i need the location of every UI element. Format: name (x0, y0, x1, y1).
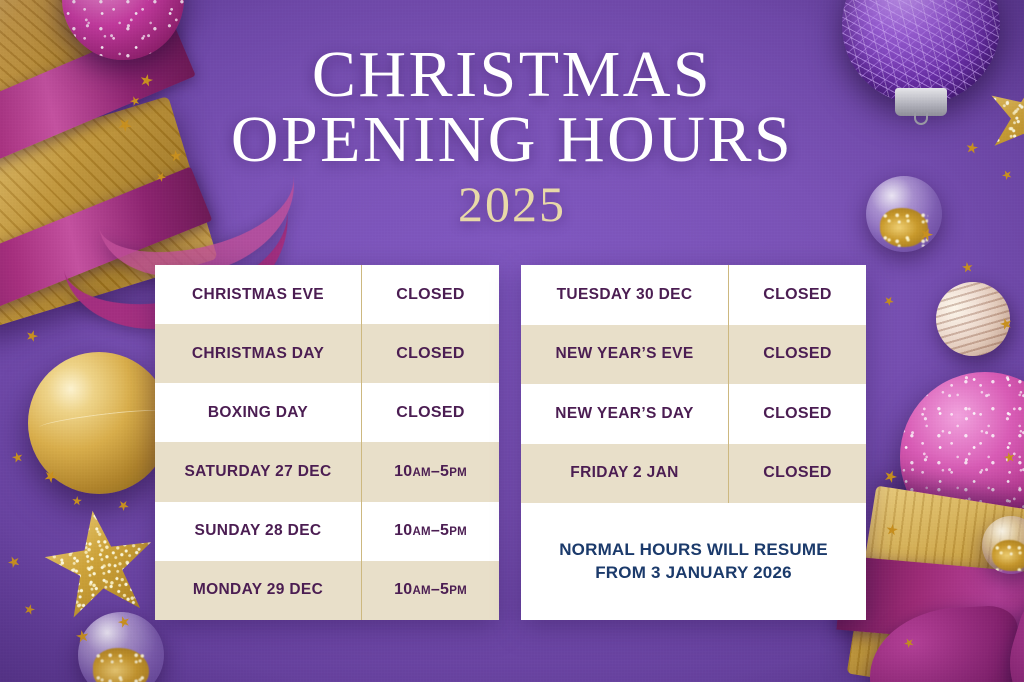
close-unit: PM (449, 467, 467, 479)
day-label: TUESDAY 30 DEC (521, 265, 728, 325)
day-label: NEW YEAR’S DAY (521, 384, 728, 444)
hours-value: CLOSED (763, 405, 831, 423)
day-label: MONDAY 29 DEC (155, 561, 361, 620)
gift-bow-loop (992, 588, 1024, 682)
star-confetti (116, 614, 131, 629)
note-line-2: FROM 3 JANUARY 2026 (595, 562, 792, 584)
hours-cell: CLOSED (361, 324, 499, 383)
open-unit: AM (413, 526, 431, 538)
table-row: CHRISTMAS DAYCLOSED (155, 324, 499, 383)
hours-value: CLOSED (396, 345, 464, 363)
poster-title: CHRISTMAS OPENING HOURS 2025 (0, 42, 1024, 229)
title-year: 2025 (0, 179, 1024, 229)
hours-cell: CLOSED (728, 265, 866, 325)
star-confetti (11, 451, 24, 464)
day-label: CHRISTMAS EVE (155, 265, 361, 324)
glitter-texture (900, 372, 1024, 542)
gold-flakes (992, 540, 1024, 570)
star-confetti (885, 523, 899, 537)
table-row: TUESDAY 30 DECCLOSED (521, 265, 866, 325)
hours-value: 10AM–5PM (394, 581, 467, 599)
hours-cell: CLOSED (361, 383, 499, 442)
note-line-1: NORMAL HOURS WILL RESUME (559, 539, 828, 561)
hours-cell: 10AM–5PM (361, 561, 499, 620)
day-label: SATURDAY 27 DEC (155, 442, 361, 501)
table-row: FRIDAY 2 JANCLOSED (521, 444, 866, 504)
clear-gold-flake-bauble-decoration (78, 612, 164, 682)
star-confetti (882, 294, 896, 308)
table-row: NEW YEAR’S DAYCLOSED (521, 384, 866, 444)
hours-cell: 10AM–5PM (361, 502, 499, 561)
table-row: MONDAY 29 DEC10AM–5PM (155, 561, 499, 620)
day-label: SUNDAY 28 DEC (155, 502, 361, 561)
clear-gold-flake-bauble-decoration (982, 516, 1024, 574)
resume-date: 3 JANUARY 2026 (651, 563, 792, 582)
star-confetti (24, 328, 39, 343)
star-confetti (918, 226, 935, 243)
opening-hours-table-right: TUESDAY 30 DECCLOSEDNEW YEAR’S EVECLOSED… (521, 265, 866, 620)
star-confetti (23, 603, 37, 617)
star-confetti (42, 468, 60, 486)
christmas-opening-hours-poster: CHRISTMAS OPENING HOURS 2025 CHRISTMAS E… (0, 0, 1024, 682)
hours-value: CLOSED (763, 345, 831, 363)
table-row: NEW YEAR’S EVECLOSED (521, 325, 866, 385)
hours-value: 10AM–5PM (394, 463, 467, 481)
star-confetti (75, 629, 90, 644)
hours-cell: CLOSED (728, 444, 866, 504)
day-label: CHRISTMAS DAY (155, 324, 361, 383)
hours-value: 10AM–5PM (394, 522, 467, 540)
star-confetti (1003, 451, 1016, 464)
day-label: NEW YEAR’S EVE (521, 325, 728, 385)
gift-box-body (847, 486, 1024, 682)
gold-star-ornament-decoration (37, 501, 163, 627)
star-confetti (999, 317, 1014, 332)
star-confetti (116, 498, 131, 513)
star-confetti (961, 261, 973, 273)
title-line-2: OPENING HOURS (0, 107, 1024, 172)
table-row: SATURDAY 27 DEC10AM–5PM (155, 442, 499, 501)
title-line-1: CHRISTMAS (0, 42, 1024, 107)
hours-value: CLOSED (763, 464, 831, 482)
open-unit: AM (413, 585, 431, 597)
star-confetti (902, 636, 916, 650)
close-unit: PM (449, 526, 467, 538)
table-row: SUNDAY 28 DEC10AM–5PM (155, 502, 499, 561)
table-row: BOXING DAYCLOSED (155, 383, 499, 442)
day-label: FRIDAY 2 JAN (521, 444, 728, 504)
star-confetti (72, 496, 83, 507)
table-row: CHRISTMAS EVECLOSED (155, 265, 499, 324)
opening-hours-table-left: CHRISTMAS EVECLOSEDCHRISTMAS DAYCLOSEDBO… (155, 265, 499, 620)
sphere-seam (39, 407, 164, 433)
normal-hours-resume-note: NORMAL HOURS WILL RESUMEFROM 3 JANUARY 2… (521, 503, 866, 620)
striped-bauble-decoration (925, 271, 1021, 367)
day-label: BOXING DAY (155, 383, 361, 442)
hours-cell: CLOSED (361, 265, 499, 324)
hours-value: CLOSED (396, 286, 464, 304)
open-unit: AM (413, 467, 431, 479)
large-pink-glitter-bauble-decoration (900, 372, 1024, 542)
gold-sphere-decoration (28, 352, 170, 494)
hours-cell: 10AM–5PM (361, 442, 499, 501)
hours-cell: CLOSED (728, 325, 866, 385)
hours-value: CLOSED (763, 286, 831, 304)
gold-flakes (93, 648, 148, 682)
hours-cell: CLOSED (728, 384, 866, 444)
gift-bow-loop (867, 605, 1023, 682)
close-unit: PM (449, 585, 467, 597)
hours-value: CLOSED (396, 404, 464, 422)
star-confetti (6, 554, 22, 570)
star-confetti (882, 468, 899, 485)
